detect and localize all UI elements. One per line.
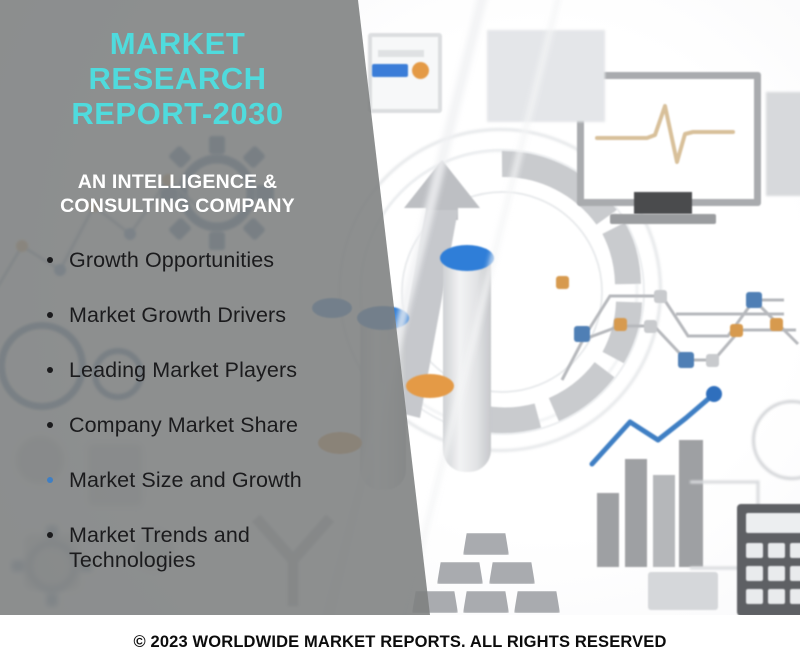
bullet-dot-icon [47, 477, 53, 483]
bullet-dot-icon [47, 422, 53, 428]
list-item-label: Market Trends and Technologies [69, 523, 250, 572]
list-item-label: Company Market Share [69, 413, 298, 437]
list-item: Leading Market Players [47, 358, 377, 383]
list-item: Company Market Share [47, 413, 377, 438]
page-subtitle: AN INTELLIGENCE & CONSULTING COMPANY [0, 170, 355, 218]
document-card-orange-dot [412, 62, 429, 79]
bullet-dot-icon [47, 257, 53, 263]
calculator-key [790, 589, 800, 604]
bullet-dot-icon [47, 312, 53, 318]
calculator-key [746, 566, 763, 581]
ascending-trend-line [588, 388, 728, 468]
copyright-text: © 2023 WORLDWIDE MARKET REPORTS. ALL RIG… [133, 633, 666, 652]
gold-bar-mid-left [437, 562, 483, 584]
chart-bar-1 [597, 493, 619, 567]
page-title-line-1: MARKET [0, 26, 355, 61]
bullet-dot-icon [47, 532, 53, 538]
calculator-key [746, 543, 763, 558]
calculator-key [768, 543, 785, 558]
market-research-report-poster: MARKET RESEARCH REPORT-2030 AN INTELLIGE… [0, 0, 800, 670]
list-item: Market Trends and Technologies [47, 523, 377, 573]
list-item-label: Market Growth Drivers [69, 303, 286, 327]
document-card-title-bar [378, 50, 424, 57]
calculator-key [768, 589, 785, 604]
chart-bar-2 [625, 459, 647, 567]
page-title-line-3: REPORT-2030 [0, 96, 355, 131]
list-item: Market Growth Drivers [47, 303, 377, 328]
page-title-line-2: RESEARCH [0, 61, 355, 96]
list-item-label: Market Size and Growth [69, 468, 302, 492]
monitor-base [610, 214, 716, 224]
gold-bar-mid-right [489, 562, 535, 584]
footer-bar: © 2023 WORLDWIDE MARKET REPORTS. ALL RIG… [0, 615, 800, 670]
chart-bar-3 [653, 475, 675, 567]
list-item-label: Growth Opportunities [69, 248, 274, 272]
poster-content: MARKET RESEARCH REPORT-2030 AN INTELLIGE… [0, 0, 360, 615]
page-title: MARKET RESEARCH REPORT-2030 [0, 26, 355, 131]
node-link-network [558, 268, 800, 388]
ecg-pulse-line [595, 100, 735, 170]
gold-bar-bottom-mid [463, 591, 509, 613]
calculator-key [746, 589, 763, 604]
list-item: Market Size and Growth [47, 468, 377, 493]
list-item: Growth Opportunities [47, 248, 377, 273]
gold-bar-bottom-right [514, 591, 560, 613]
feature-bullet-list: Growth Opportunities Market Growth Drive… [47, 248, 377, 573]
flow-node-box [648, 572, 718, 610]
calculator-key [790, 566, 800, 581]
monitor-neck [634, 192, 692, 214]
gold-bar-top [463, 533, 509, 555]
cylinder-bar-tall-top-blue [440, 245, 494, 271]
page-subtitle-line-1: AN INTELLIGENCE & [0, 170, 355, 194]
calculator-key [790, 543, 800, 558]
list-item-label: Leading Market Players [69, 358, 297, 382]
document-card-blue-bar [372, 64, 408, 77]
calculator-screen [746, 513, 800, 533]
cylinder-orange-disc [406, 374, 454, 398]
decorative-block-right [766, 92, 800, 196]
calculator-key [768, 566, 785, 581]
page-subtitle-line-2: CONSULTING COMPANY [0, 194, 355, 218]
bullet-dot-icon [47, 367, 53, 373]
